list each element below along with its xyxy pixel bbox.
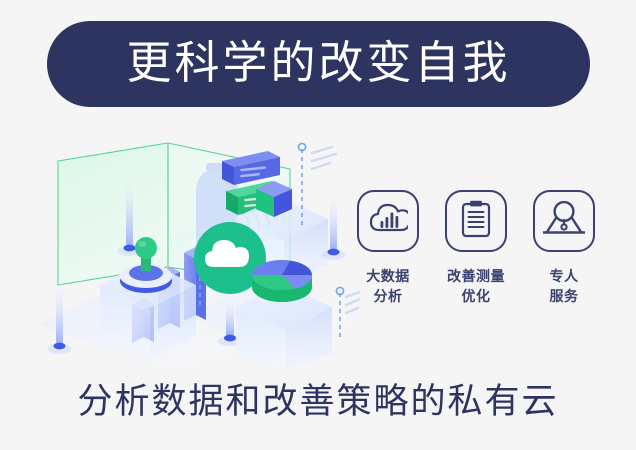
pie-chart-3d <box>252 260 312 302</box>
headset-agent-icon <box>543 200 585 243</box>
feature-label: 大数据 分析 <box>366 266 410 307</box>
clipboard-icon <box>459 200 493 243</box>
feature-item-dedicated-service[interactable]: 专人 服务 <box>528 190 600 307</box>
feature-icon-box <box>445 190 507 252</box>
feature-icon-box <box>357 190 419 252</box>
cloud-bar-chart-icon <box>368 202 408 241</box>
feature-item-measurement-optimization[interactable]: 改善测量 优化 <box>440 190 512 307</box>
feature-label: 专人 服务 <box>550 266 579 307</box>
feature-icon-box <box>533 190 595 252</box>
isometric-illustration <box>40 125 360 370</box>
tagline: 分析数据和改善策略的私有云 <box>0 382 636 422</box>
feature-label: 改善测量 优化 <box>447 266 505 307</box>
feature-item-big-data-analysis[interactable]: 大数据 分析 <box>352 190 424 307</box>
feature-list: 大数据 分析 改善测量 优化 <box>352 190 600 307</box>
page-title: 更科学的改变自我 <box>126 40 510 88</box>
header-banner: 更科学的改变自我 <box>47 21 590 107</box>
